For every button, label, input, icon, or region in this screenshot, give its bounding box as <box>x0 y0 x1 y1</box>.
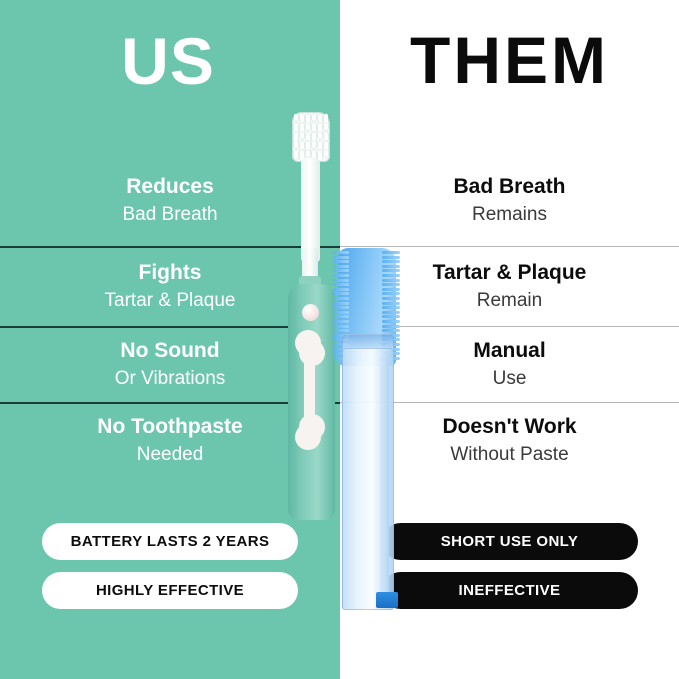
us-panel: US Reduces Bad Breath Fights Tartar & Pl… <box>0 0 340 679</box>
us-row-title: No Sound <box>6 338 334 364</box>
them-row-subtitle: Without Paste <box>346 443 673 468</box>
them-row-bad-breath: Bad Breath Remains <box>340 160 679 246</box>
us-badge-battery: BATTERY LASTS 2 YEARS <box>42 523 298 560</box>
them-row-subtitle: Remain <box>346 289 673 314</box>
us-row-fights: Fights Tartar & Plaque <box>0 246 340 326</box>
us-pill-list: BATTERY LASTS 2 YEARS HIGHLY EFFECTIVE <box>0 523 340 621</box>
us-header-title: US <box>0 28 338 94</box>
them-badge-ineffective: INEFFECTIVE <box>382 572 638 609</box>
them-row-manual: Manual Use <box>340 326 679 402</box>
them-row-tartar-plaque: Tartar & Plaque Remain <box>340 246 679 326</box>
them-row-subtitle: Use <box>346 367 673 392</box>
us-row-reduces: Reduces Bad Breath <box>0 160 340 246</box>
them-row-title: Doesn't Work <box>346 414 673 440</box>
us-row-subtitle: Or Vibrations <box>6 367 334 392</box>
us-row-subtitle: Bad Breath <box>6 203 334 228</box>
us-badge-effective: HIGHLY EFFECTIVE <box>42 572 298 609</box>
us-row-list: Reduces Bad Breath Fights Tartar & Plaqu… <box>0 160 340 478</box>
them-row-title: Bad Breath <box>346 174 673 200</box>
them-header-title: THEM <box>340 27 679 93</box>
us-row-title: Reduces <box>6 174 334 200</box>
us-row-subtitle: Tartar & Plaque <box>6 289 334 314</box>
us-row-title: No Toothpaste <box>6 414 334 440</box>
them-row-title: Tartar & Plaque <box>346 260 673 286</box>
us-row-no-toothpaste: No Toothpaste Needed <box>0 402 340 478</box>
them-panel: THEM Bad Breath Remains Tartar & Plaque … <box>340 0 679 679</box>
them-row-doesnt-work: Doesn't Work Without Paste <box>340 402 679 478</box>
us-row-title: Fights <box>6 260 334 286</box>
them-row-list: Bad Breath Remains Tartar & Plaque Remai… <box>340 160 679 478</box>
them-row-subtitle: Remains <box>346 203 673 228</box>
us-row-subtitle: Needed <box>6 443 334 468</box>
comparison-infographic: US Reduces Bad Breath Fights Tartar & Pl… <box>0 0 679 679</box>
them-pill-list: SHORT USE ONLY INEFFECTIVE <box>340 523 679 621</box>
them-row-title: Manual <box>346 338 673 364</box>
us-row-no-sound: No Sound Or Vibrations <box>0 326 340 402</box>
them-badge-short-use: SHORT USE ONLY <box>382 523 638 560</box>
